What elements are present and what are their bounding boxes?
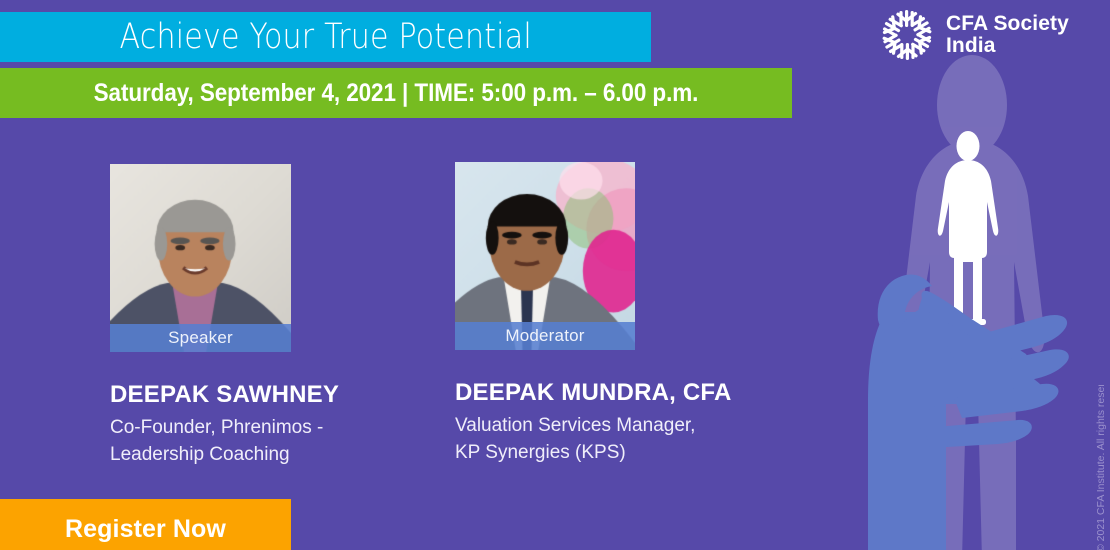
cfa-society-india-logo: CFA Society India — [879, 7, 1069, 63]
moderator-role-label: Moderator — [505, 326, 584, 346]
event-datetime-banner: Saturday, September 4, 2021 | TIME: 5:00… — [0, 68, 792, 118]
speaker-card: Speaker DEEPAK SAWHNEY Co-Founder, Phren… — [110, 164, 339, 469]
cfa-pinwheel-icon — [879, 7, 935, 63]
moderator-title-line-2: KP Synergies (KPS) — [455, 440, 732, 467]
hand-holding-person-illustration — [850, 0, 1110, 550]
speaker-photo: Speaker — [110, 164, 291, 352]
copyright-text: © 2021 CFA Institute. All rights reserve… — [1095, 385, 1107, 550]
moderator-card: Moderator DEEPAK MUNDRA, CFA Valuation S… — [455, 162, 732, 467]
moderator-title-line-1: Valuation Services Manager, — [455, 413, 732, 440]
moderator-title: Valuation Services Manager, KP Synergies… — [455, 413, 732, 467]
moderator-name: DEEPAK MUNDRA, CFA — [455, 381, 732, 405]
event-datetime: Saturday, September 4, 2021 | TIME: 5:00… — [94, 79, 699, 108]
speaker-name: DEEPAK SAWHNEY — [110, 383, 339, 407]
speaker-role-badge: Speaker — [110, 324, 291, 352]
speaker-title-line-1: Co-Founder, Phrenimos - — [110, 415, 339, 442]
moderator-role-badge: Moderator — [455, 322, 635, 350]
logo-line-2: India — [946, 35, 1069, 57]
moderator-photo: Moderator — [455, 162, 635, 350]
logo-line-1: CFA Society — [946, 13, 1069, 35]
speaker-title-line-2: Leadership Coaching — [110, 442, 339, 469]
logo-wordmark: CFA Society India — [946, 13, 1069, 58]
page-title: Achieve Your True Potential — [119, 17, 531, 57]
speaker-title: Co-Founder, Phrenimos - Leadership Coach… — [110, 415, 339, 469]
speaker-role-label: Speaker — [168, 328, 233, 348]
poster-canvas: CFA Society India Achieve Your True Pote… — [0, 0, 1110, 550]
register-now-label: Register Now — [65, 515, 226, 544]
event-title-banner: Achieve Your True Potential — [0, 12, 651, 62]
copyright-notice: © 2021 CFA Institute. All rights reserve… — [1092, 385, 1110, 550]
register-now-button[interactable]: Register Now — [0, 499, 291, 550]
